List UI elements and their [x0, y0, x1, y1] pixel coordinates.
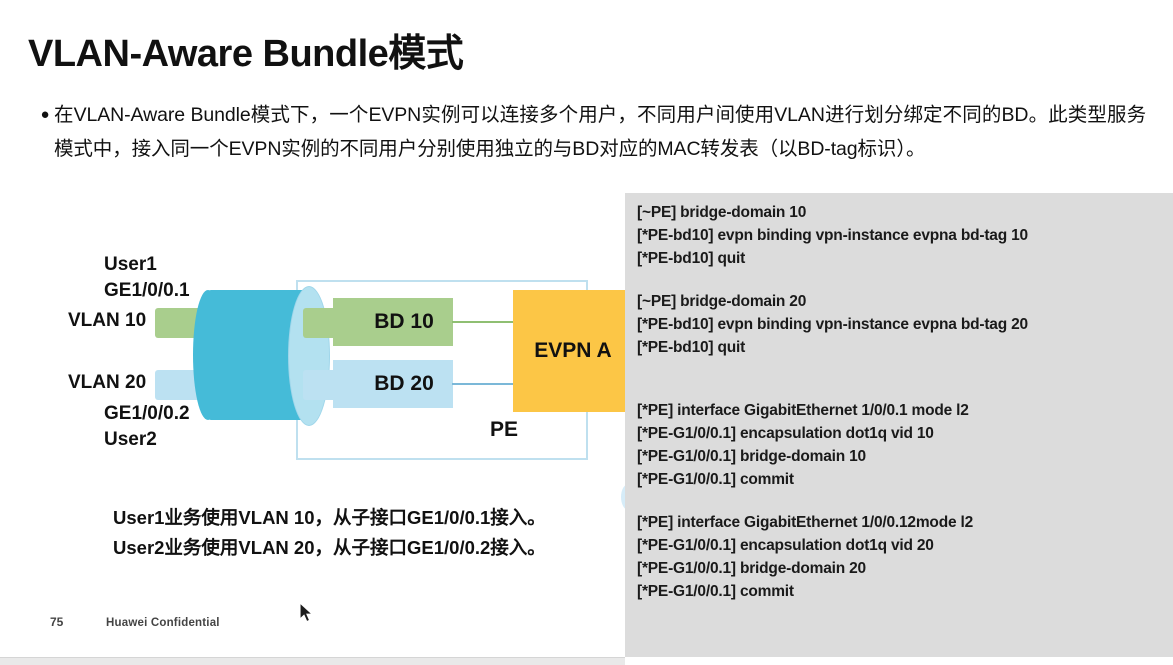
network-diagram: PE BD 10 BD 20 EVPN A User1 GE1/0/0.1 V	[60, 248, 605, 473]
bd10-label: BD 10	[352, 310, 434, 334]
page-number: 75	[50, 615, 106, 629]
evpn-a-label: EVPN A	[534, 339, 611, 363]
config-line: [*PE-G1/0/0.1] commit	[637, 580, 1173, 603]
user1-interface-label: GE1/0/0.1	[104, 280, 190, 302]
evpn-a-box: EVPN A	[513, 290, 633, 412]
cylinder-right-cap	[288, 286, 330, 426]
bd20-box: BD 20	[333, 360, 453, 408]
vlan10-label: VLAN 10	[68, 310, 146, 332]
caption-line: User1业务使用VLAN 10，从子接口GE1/0/0.1接入。	[113, 503, 546, 533]
config-spacer	[625, 379, 1173, 399]
bd20-evpn-connector	[452, 383, 514, 385]
config-spacer	[625, 491, 1173, 511]
config-line: [*PE-G1/0/0.1] encapsulation dot1q vid 1…	[637, 422, 1173, 445]
mouse-pointer-icon	[299, 602, 317, 626]
bd10-evpn-connector	[452, 321, 514, 323]
page-title: VLAN-Aware Bundle模式	[28, 22, 463, 77]
config-line: [*PE-G1/0/0.1] bridge-domain 20	[637, 557, 1173, 580]
diagram-captions: User1业务使用VLAN 10，从子接口GE1/0/0.1接入。 User2业…	[113, 503, 546, 563]
slide-footer: 75 Huawei Confidential	[50, 615, 220, 629]
config-line: [*PE] interface GigabitEthernet 1/0/0.1 …	[637, 399, 1173, 422]
config-group: [*PE] interface GigabitEthernet 1/0/0.12…	[625, 511, 1173, 603]
config-line: [*PE-bd10] quit	[637, 247, 1173, 270]
caption-line: User2业务使用VLAN 20，从子接口GE1/0/0.2接入。	[113, 533, 546, 563]
bullet-marker-icon: ●	[36, 98, 54, 132]
bd20-label: BD 20	[352, 372, 434, 396]
config-line: [*PE-bd10] evpn binding vpn-instance evp…	[637, 313, 1173, 336]
cli-config-panel: [~PE] bridge-domain 10[*PE-bd10] evpn bi…	[625, 193, 1173, 657]
bullet-paragraph: ● 在VLAN-Aware Bundle模式下，一个EVPN实例可以连接多个用户…	[36, 98, 1146, 166]
config-line: [*PE-bd10] quit	[637, 336, 1173, 359]
slide-canvas: VLAN-Aware Bundle模式 ● 在VLAN-Aware Bundle…	[0, 0, 1173, 664]
config-line: [*PE-G1/0/0.1] commit	[637, 468, 1173, 491]
config-spacer	[625, 270, 1173, 290]
config-line: [*PE-bd10] evpn binding vpn-instance evp…	[637, 224, 1173, 247]
user1-label: User1	[104, 254, 157, 276]
config-line: [~PE] bridge-domain 20	[637, 290, 1173, 313]
config-group: [~PE] bridge-domain 20[*PE-bd10] evpn bi…	[625, 290, 1173, 359]
config-line: [~PE] bridge-domain 10	[637, 201, 1173, 224]
config-line: [*PE-G1/0/0.1] encapsulation dot1q vid 2…	[637, 534, 1173, 557]
bd10-box: BD 10	[333, 298, 453, 346]
confidentiality-notice: Huawei Confidential	[106, 617, 220, 629]
pe-label: PE	[490, 418, 518, 442]
config-line: [*PE] interface GigabitEthernet 1/0/0.12…	[637, 511, 1173, 534]
bullet-body-text: 在VLAN-Aware Bundle模式下，一个EVPN实例可以连接多个用户，不…	[54, 98, 1146, 166]
config-group: [*PE] interface GigabitEthernet 1/0/0.1 …	[625, 399, 1173, 491]
config-group: [~PE] bridge-domain 10[*PE-bd10] evpn bi…	[625, 201, 1173, 270]
user2-label: User2	[104, 429, 157, 451]
vlan20-label: VLAN 20	[68, 372, 146, 394]
config-spacer	[625, 359, 1173, 379]
config-line: [*PE-G1/0/0.1] bridge-domain 10	[637, 445, 1173, 468]
user2-interface-label: GE1/0/0.2	[104, 403, 190, 425]
